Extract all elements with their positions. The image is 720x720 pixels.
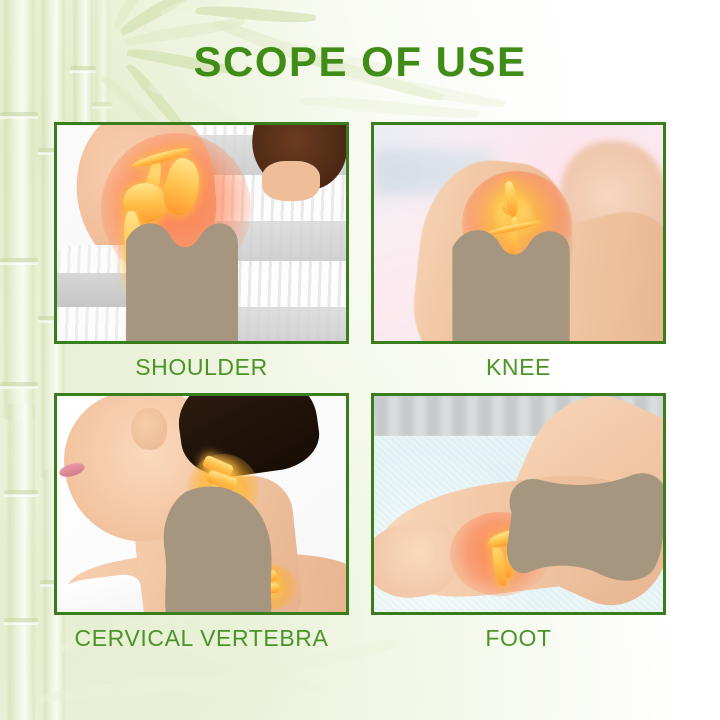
scope-item-shoulder[interactable]: SHOULDER bbox=[54, 122, 349, 381]
neck bbox=[262, 161, 320, 201]
caption-foot: FOOT bbox=[371, 625, 666, 652]
bamboo-culm bbox=[6, 404, 36, 720]
cervical-vertebra-photo[interactable] bbox=[54, 393, 349, 615]
scope-item-foot[interactable]: FOOT bbox=[371, 393, 666, 652]
scope-of-use-poster: SCOPE OF USE bbox=[0, 0, 720, 720]
pain-relief-patch bbox=[117, 213, 245, 344]
bamboo-leaf bbox=[299, 92, 479, 123]
pain-relief-patch bbox=[153, 482, 279, 615]
bamboo-leaf bbox=[195, 2, 316, 26]
bamboo-leaf bbox=[40, 674, 240, 702]
foot-scene bbox=[374, 396, 663, 612]
shoulder-photo[interactable] bbox=[54, 122, 349, 344]
scope-item-cervical-vertebra[interactable]: CERVICAL VERTEBRA bbox=[54, 393, 349, 652]
caption-shoulder: SHOULDER bbox=[54, 354, 349, 381]
shoulder-scene bbox=[57, 125, 346, 341]
foot-photo[interactable] bbox=[371, 393, 666, 615]
scope-panel-grid: SHOULDER K bbox=[54, 122, 666, 652]
knee-photo[interactable] bbox=[371, 122, 666, 344]
bamboo-leaf bbox=[110, 0, 169, 29]
tank-top bbox=[54, 573, 146, 615]
bamboo-leaf bbox=[117, 0, 208, 36]
ear bbox=[131, 408, 167, 450]
cervical-vertebra-scene bbox=[57, 396, 346, 612]
pain-relief-patch bbox=[446, 221, 574, 344]
bamboo-leaf bbox=[79, 664, 259, 703]
pain-relief-patch bbox=[498, 470, 666, 588]
caption-knee: KNEE bbox=[371, 354, 666, 381]
knee-scene bbox=[374, 125, 663, 341]
page-title: SCOPE OF USE bbox=[0, 38, 720, 86]
scope-item-knee[interactable]: KNEE bbox=[371, 122, 666, 381]
bamboo-leaf bbox=[158, 0, 261, 18]
caption-cervical-vertebra: CERVICAL VERTEBRA bbox=[54, 625, 349, 652]
